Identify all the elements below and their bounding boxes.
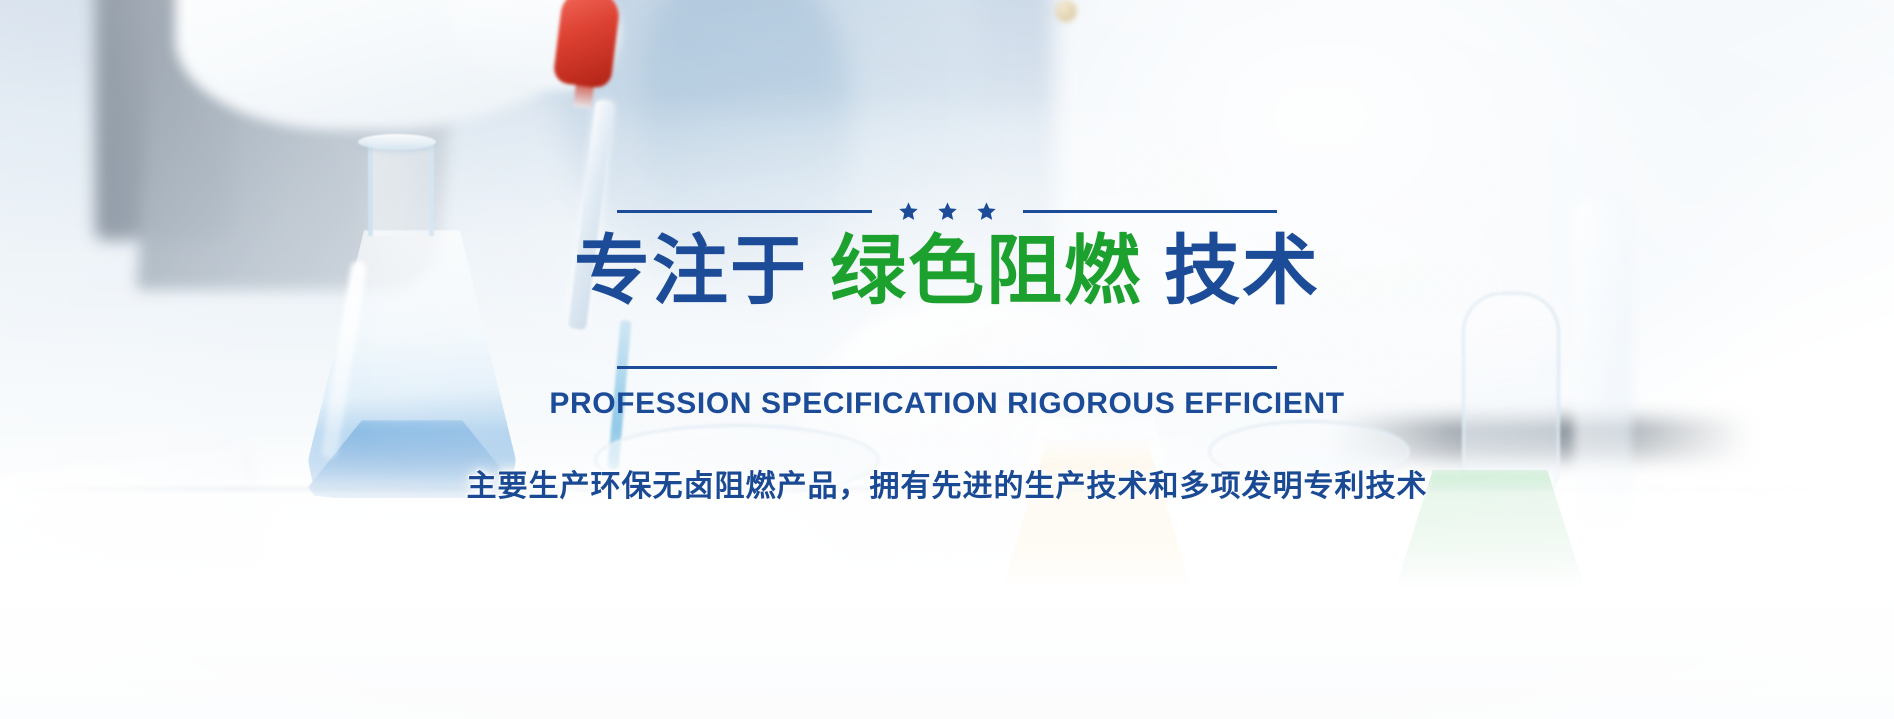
- star-icon: [976, 201, 997, 222]
- hero-banner: 专注于绿色阻燃技术 PROFESSION SPECIFICATION RIGOR…: [0, 0, 1894, 719]
- page-title: 专注于绿色阻燃技术: [574, 228, 1320, 313]
- title-underline: [617, 366, 1277, 369]
- star-icon: [898, 201, 919, 222]
- star-group: [898, 201, 997, 222]
- title-part-green-flame-retardant: 绿色阻燃: [830, 226, 1142, 315]
- divider-rule-right: [1023, 210, 1278, 213]
- chinese-subtitle: 主要生产环保无卤阻燃产品，拥有先进的生产技术和多项发明专利技术: [467, 461, 1428, 505]
- star-icon: [937, 201, 958, 222]
- divider-rule-left: [617, 210, 872, 213]
- decorative-divider: [617, 200, 1277, 222]
- english-subtitle: PROFESSION SPECIFICATION RIGOROUS EFFICI…: [549, 387, 1344, 421]
- title-part-technology: 技术: [1164, 226, 1320, 315]
- banner-content: 专注于绿色阻燃技术 PROFESSION SPECIFICATION RIGOR…: [0, 0, 1894, 719]
- title-part-focus: 专注于: [574, 226, 808, 315]
